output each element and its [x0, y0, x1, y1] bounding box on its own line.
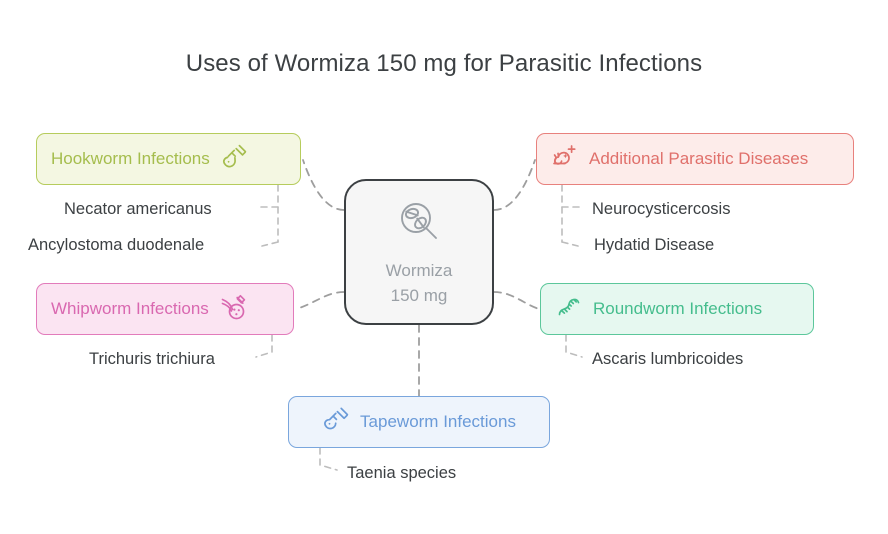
- branch-node-whipworm[interactable]: Whipworm Infections: [36, 283, 294, 335]
- connector-center-whipworm: [296, 292, 344, 309]
- sub-item-ascaris-lumbricoides: Ascaris lumbricoides: [592, 350, 743, 369]
- magnifier-pills-icon: [393, 196, 445, 253]
- snail-medical-cross-icon: [551, 143, 579, 176]
- sub-item-ancylostoma-duodenale: Ancylostoma duodenale: [28, 236, 204, 255]
- connector-hookworm-child-2: [262, 242, 278, 246]
- branch-label-whipworm: Whipworm Infections: [51, 299, 209, 319]
- connector-center-roundworm: [494, 292, 539, 309]
- center-node-dose: 150 mg: [386, 284, 453, 309]
- pipette-dish-icon: [322, 406, 350, 439]
- sub-item-necator-americanus: Necator americanus: [64, 200, 212, 219]
- center-node[interactable]: Wormiza 150 mg: [344, 179, 494, 325]
- branch-label-additional-parasitic-diseases: Additional Parasitic Diseases: [589, 149, 808, 169]
- connector-center-hookworm: [303, 160, 344, 210]
- branch-node-hookworm[interactable]: Hookworm Infections: [36, 133, 301, 185]
- connector-whipworm-child-1: [256, 335, 272, 357]
- sub-item-taenia-species: Taenia species: [347, 464, 456, 483]
- center-node-label: Wormiza 150 mg: [386, 259, 453, 308]
- connector-roundworm-child-1: [566, 335, 582, 357]
- branch-node-tapeworm[interactable]: Tapeworm Infections: [288, 396, 550, 448]
- connector-center-additional: [494, 160, 535, 210]
- connector-additional-child-2: [562, 242, 578, 246]
- lab-flask-syringe-icon: [220, 143, 248, 176]
- connector-tapeworm-child-1: [320, 448, 337, 470]
- branch-label-hookworm: Hookworm Infections: [51, 149, 210, 169]
- microscope-dish-icon: [219, 293, 247, 326]
- page-title: Uses of Wormiza 150 mg for Parasitic Inf…: [0, 50, 888, 78]
- branch-node-additional-parasitic-diseases[interactable]: Additional Parasitic Diseases: [536, 133, 854, 185]
- branch-label-tapeworm: Tapeworm Infections: [360, 412, 516, 432]
- branch-node-roundworm[interactable]: Roundworm Infections: [540, 283, 814, 335]
- worm-icon: [555, 293, 583, 326]
- sub-item-hydatid-disease: Hydatid Disease: [594, 236, 714, 255]
- branch-label-roundworm: Roundworm Infections: [593, 299, 762, 319]
- mindmap-canvas: Uses of Wormiza 150 mg for Parasitic Inf…: [0, 0, 888, 534]
- sub-item-neurocysticercosis: Neurocysticercosis: [592, 200, 730, 219]
- center-node-name: Wormiza: [386, 259, 453, 284]
- sub-item-trichuris-trichiura: Trichuris trichiura: [89, 350, 215, 369]
